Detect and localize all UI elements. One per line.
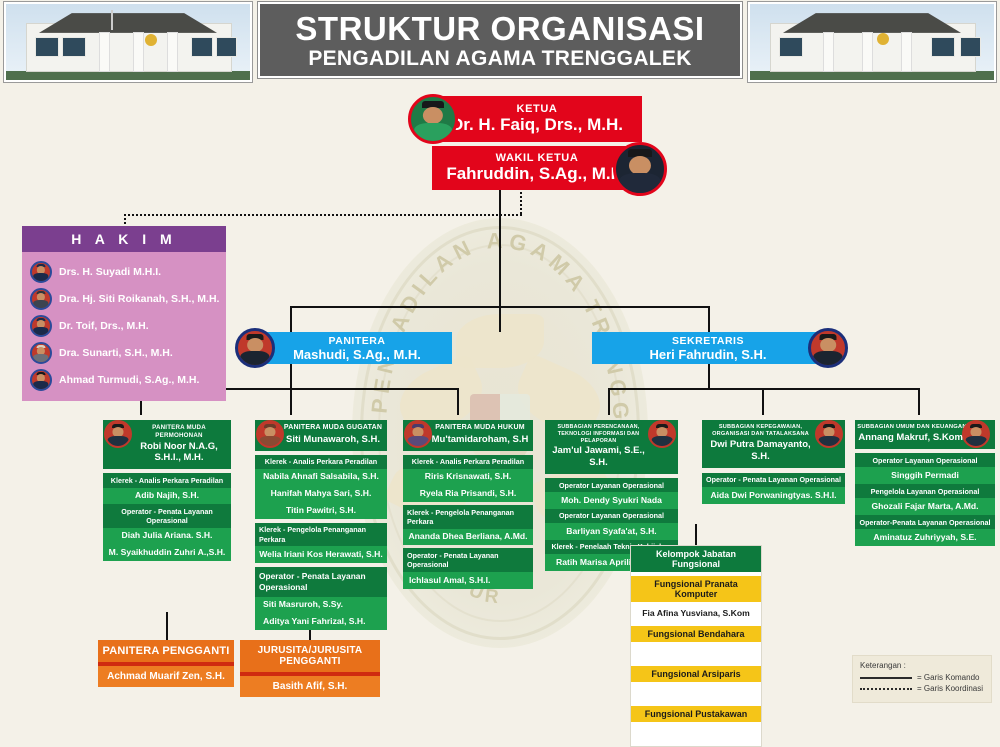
unit-role: PANITERA MUDA PERMOHONAN (129, 424, 229, 440)
fungsional-nama (631, 685, 761, 702)
wakil-ketua-avatar (613, 142, 667, 196)
avatar (30, 315, 52, 337)
jurusita-name: Basith Afif, S.H. (240, 676, 380, 697)
dotted-line-icon (860, 688, 912, 690)
unit6-avatar (962, 420, 990, 448)
hakim-list: Drs. H. Suyadi M.H.I. Dra. Hj. Siti Roik… (22, 252, 226, 401)
legend-row-koordinasi: = Garis Koordinasi (860, 684, 984, 693)
jabatan-row: Operator Layanan Operasional (545, 509, 678, 523)
page-subtitle: PENGADILAN AGAMA TRENGGALEK (308, 48, 691, 69)
list-item[interactable]: Dra. Hj. Siti Roikanah, S.H., M.H. (22, 285, 226, 312)
person-row: Moh. Dendy Syukri Nada (545, 492, 678, 509)
person-row: Aida Dwi Porwaningtyas. S.H.I. (702, 487, 845, 504)
connector-main-trunk (499, 190, 501, 332)
avatar (30, 369, 52, 391)
building-photo-left (4, 2, 252, 82)
unit-name: Siti Munawaroh, S.H. (281, 434, 385, 446)
jabatan-row: Operator - Penata Layanan Operasional (702, 473, 845, 487)
svg-text:PENGADILAN AGAMA TRENGGALEK: PENGADILAN AGAMA TRENGGALEK (352, 218, 634, 425)
person-row: Ananda Dhea Berliana, A.Md. (403, 529, 533, 546)
connector-level2-h (290, 306, 710, 308)
unit-column-gugatan[interactable]: PANITERA MUDA GUGATAN Siti Munawaroh, S.… (255, 420, 387, 630)
sekretaris-name: Heri Fahrudin, S.H. (649, 347, 766, 362)
building-photo-right (748, 2, 996, 82)
person-row: Welia Iriani Kos Herawati, S.H. (255, 546, 387, 563)
watermark-arc-top: PENGADILAN AGAMA TRENGGALEK (352, 218, 634, 425)
panitera-pengganti-role: PANITERA PENGGANTI (98, 640, 234, 662)
jabatan-row: Pengelola Layanan Operasional (855, 484, 995, 498)
title-banner: STRUKTUR ORGANISASI PENGADILAN AGAMA TRE… (258, 2, 742, 78)
panitera-name: Mashudi, S.Ag., M.H. (293, 347, 421, 362)
hakim-name: Dra. Sunarti, S.H., M.H. (59, 347, 173, 359)
avatar (30, 342, 52, 364)
connector-fungsional (695, 524, 697, 546)
list-item[interactable]: Dra. Sunarti, S.H., M.H. (22, 339, 226, 366)
person-row: Ryela Ria Prisandi, S.H. (403, 486, 533, 503)
connector-panitera-pengganti (166, 612, 168, 640)
wakil-ketua-role: WAKIL KETUA (496, 152, 579, 164)
hakim-name: Drs. H. Suyadi M.H.I. (59, 266, 161, 278)
legend-title: Keterangan : (860, 661, 984, 670)
jabatan-row: Klerek - Analis Perkara Peradilan (403, 455, 533, 469)
page-header: STRUKTUR ORGANISASI PENGADILAN AGAMA TRE… (0, 0, 1000, 82)
jabatan-row: Operator - Penata Layanan Operasional (255, 567, 387, 597)
connector-unit3-drop (457, 388, 459, 415)
unit-role: SUBBAGIAN UMUM DAN KEUANGAN (857, 424, 967, 431)
person-row: Titin Pawitri, S.H. (255, 502, 387, 519)
unit-name: Dwi Putra Damayanto, S.H. (704, 439, 817, 463)
unit-name: Robi Noor N.A.G, S.H.I., M.H. (129, 441, 229, 465)
person-row: Nabila Ahnafi Salsabila, S.H. (255, 469, 387, 486)
fungsional-nama (631, 645, 761, 662)
jabatan-row: Klerek - Analis Perkara Peradilan (255, 455, 387, 469)
hakim-title: H A K I M (22, 226, 226, 252)
unit3-avatar (404, 420, 432, 448)
legend-komando-label: = Garis Komando (917, 673, 979, 682)
panitera-pengganti-name: Achmad Muarif Zen, S.H. (98, 666, 234, 687)
fungsional-jabatan: Fungsional Arsiparis (631, 666, 761, 682)
list-item[interactable]: Ahmad Turmudi, S.Ag., M.H. (22, 366, 226, 393)
ketua-name: Dr. H. Faiq, Drs., M.H. (451, 115, 623, 135)
jabatan-row: Operator-Penata Layanan Operasional (855, 515, 995, 529)
panitera-role: PANITERA (329, 335, 386, 347)
sekretaris-card[interactable]: SEKRETARIS Heri Fahrudin, S.H. (592, 332, 824, 364)
unit-name: Mu'tamidaroham, S.H (429, 434, 531, 446)
fungsional-title: Kelompok Jabatan Fungsional (631, 546, 761, 572)
unit-role: SUBBAGIAN PERENCANAAN, TEKNOLOGI INFORMA… (547, 424, 650, 444)
person-row: Riris Krisnawati, S.H. (403, 469, 533, 486)
connector-hakim-dotted-v (520, 192, 522, 214)
person-row: Siti Masruroh, S.Sy. (255, 597, 387, 614)
jurusita-role: JURUSITA/JURUSITA PENGGANTI (240, 640, 380, 672)
unit-role: PANITERA MUDA GUGATAN (281, 424, 385, 433)
legend-box: Keterangan : = Garis Komando = Garis Koo… (852, 655, 992, 703)
fungsional-jabatan: Fungsional Bendahara (631, 626, 761, 642)
connector-hakim-dotted-h (124, 214, 522, 216)
panitera-avatar (235, 328, 275, 368)
unit1-avatar (104, 420, 132, 448)
person-row: Singgih Permadi (855, 467, 995, 484)
panitera-card[interactable]: PANITERA Mashudi, S.Ag., M.H. (262, 332, 452, 364)
connector-sekretaris-drop (708, 306, 710, 332)
person-row: Barliyan Syafa'at, S.H. (545, 523, 678, 540)
hakim-panel[interactable]: H A K I M Drs. H. Suyadi M.H.I. Dra. Hj.… (22, 226, 226, 401)
person-row: M. Syaikhuddin Zuhri A.,S.H. (103, 545, 231, 562)
unit-name: Jam'ul Jawami, S.E., S.H. (547, 445, 650, 469)
connector-unit6-drop (918, 388, 920, 415)
list-item[interactable]: Drs. H. Suyadi M.H.I. (22, 258, 226, 285)
panitera-pengganti-card[interactable]: PANITERA PENGGANTI Achmad Muarif Zen, S.… (98, 640, 234, 687)
jabatan-row: Klerek - Pengelola Penanganan Perkara (255, 523, 387, 547)
jabatan-row: Operator - Penata Layanan Operasional (403, 548, 533, 572)
fungsional-nama (631, 725, 761, 742)
jabatan-row: Klerek - Analis Perkara Peradilan (103, 473, 231, 487)
jurusita-card[interactable]: JURUSITA/JURUSITA PENGGANTI Basith Afif,… (240, 640, 380, 697)
sekretaris-avatar (808, 328, 848, 368)
jabatan-row: Klerek - Pengelola Penanganan Perkara (403, 505, 533, 529)
connector-unit2-drop (290, 388, 292, 415)
hakim-name: Dr. Toif, Drs., M.H. (59, 320, 149, 332)
unit4-avatar (648, 420, 676, 448)
sekretaris-role: SEKRETARIS (672, 335, 744, 347)
jabatan-row: Operator - Penata Layanan Operasional (103, 504, 231, 528)
avatar (30, 288, 52, 310)
unit2-avatar (256, 420, 284, 448)
jabatan-row: Operator Layanan Operasional (545, 478, 678, 492)
kelompok-jabatan-fungsional[interactable]: Kelompok Jabatan Fungsional Fungsional P… (630, 545, 762, 747)
solid-line-icon (860, 677, 912, 679)
list-item[interactable]: Dr. Toif, Drs., M.H. (22, 312, 226, 339)
connector-panitera-drop (290, 306, 292, 332)
connector-unit5-drop (762, 388, 764, 415)
person-row: Ghozali Fajar Marta, A.Md. (855, 498, 995, 515)
wakil-ketua-name: Fahruddin, S.Ag., M.H. (446, 164, 627, 184)
person-row: Aditya Yani Fahrizal, S.H. (255, 614, 387, 631)
legend-row-komando: = Garis Komando (860, 673, 984, 682)
ketua-avatar (408, 94, 458, 144)
connector-unit4-drop (608, 388, 610, 415)
page-title: STRUKTUR ORGANISASI (295, 12, 704, 45)
fungsional-jabatan: Fungsional Pranata Komputer (631, 576, 761, 602)
person-row: Diah Julia Ariana. S.H. (103, 528, 231, 545)
unit5-avatar (815, 420, 843, 448)
legend-koordinasi-label: = Garis Koordinasi (917, 684, 983, 693)
fungsional-jabatan: Fungsional Pustakawan (631, 706, 761, 722)
unit-role: SUBBAGIAN KEPEGAWAIAN, ORGANISASI DAN TA… (704, 424, 817, 438)
person-row: Aminatuz Zuhriyyah, S.E. (855, 529, 995, 546)
hakim-name: Dra. Hj. Siti Roikanah, S.H., M.H. (59, 293, 219, 305)
avatar (30, 261, 52, 283)
person-row: Ichlasul Amal, S.H.I. (403, 572, 533, 589)
connector-panitera-down (290, 362, 292, 388)
connector-sekretaris-down (708, 362, 710, 388)
fungsional-nama: Fia Afina Yusviana, S.Kom (631, 605, 761, 622)
ketua-role: KETUA (517, 103, 558, 115)
unit-role: PANITERA MUDA HUKUM (429, 424, 531, 433)
unit-name: Annang Makruf, S.Kom. (857, 432, 967, 444)
jabatan-row: Operator Layanan Operasional (855, 453, 995, 467)
person-row: Hanifah Mahya Sari, S.H. (255, 486, 387, 503)
hakim-name: Ahmad Turmudi, S.Ag., M.H. (59, 374, 199, 386)
person-row: Adib Najih, S.H. (103, 488, 231, 505)
